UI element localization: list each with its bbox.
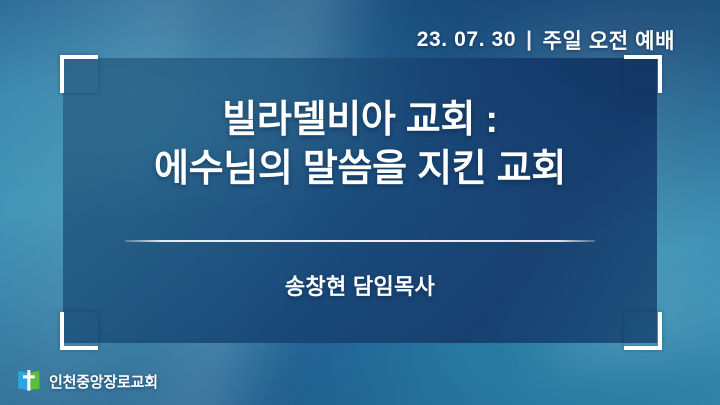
header-separator: | [525, 28, 533, 52]
church-logo-text: 인천중앙장로교회 [49, 371, 158, 392]
sermon-title-line-1: 빌라델비아 교회 : [63, 96, 657, 145]
sermon-title-slide: 23. 07. 30 | 주일 오전 예배 빌라델비아 교회 : 에수님의 말씀… [0, 0, 720, 405]
title-divider [125, 240, 595, 242]
service-name: 주일 오전 예배 [543, 25, 675, 55]
corner-bracket-bottom-left [60, 312, 98, 350]
corner-bracket-top-right [624, 55, 662, 93]
sermon-title: 빌라델비아 교회 : 에수님의 말씀을 지킨 교회 [63, 96, 657, 195]
sermon-title-line-2: 에수님의 말씀을 지킨 교회 [63, 145, 657, 194]
church-logo: 인천중앙장로교회 [16, 368, 158, 394]
service-date: 23. 07. 30 [417, 28, 516, 52]
corner-bracket-bottom-right [624, 312, 662, 350]
open-book-cross-icon [16, 368, 42, 394]
speaker-name: 송창현 담임목사 [63, 269, 657, 301]
corner-bracket-top-left [60, 55, 98, 93]
date-header: 23. 07. 30 | 주일 오전 예배 [417, 25, 675, 55]
